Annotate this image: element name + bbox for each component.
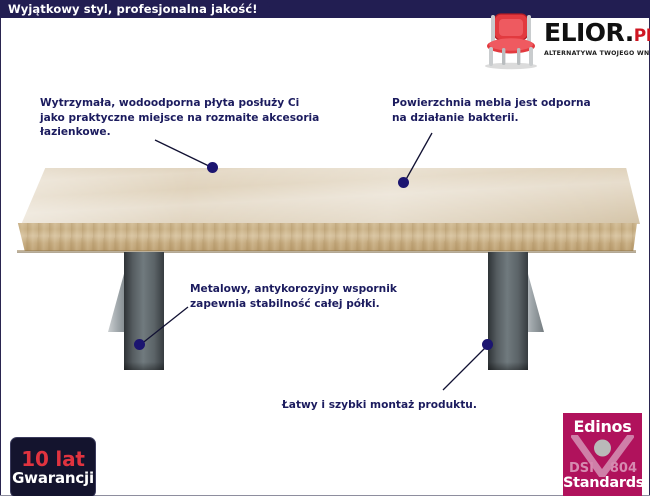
edinos-number: 804 xyxy=(610,461,637,476)
edinos-dsi-code: DSI xyxy=(569,461,594,476)
warranty-label: Gwarancji xyxy=(12,470,94,487)
callout-dot-bacteria-resistant xyxy=(398,177,409,188)
callout-dot-durable-board xyxy=(207,162,218,173)
callout-dot-metal-bracket xyxy=(134,339,145,350)
callout-easy-assembly: Łatwy i szybki montaż produktu. xyxy=(282,398,522,413)
edinos-name: Edinos xyxy=(563,417,642,436)
header-tab: Wyjątkowy styl, profesjonalna jakość! xyxy=(0,0,270,18)
warranty-years: 10 lat xyxy=(21,449,85,470)
page-title: Wyjątkowy styl, profesjonalna jakość! xyxy=(8,0,258,18)
warranty-badge: 10 lat Gwarancji xyxy=(10,437,96,496)
callout-durable-board: Wytrzymała, wodoodporna płyta posłuży Ci… xyxy=(40,96,360,140)
callout-dot-easy-assembly xyxy=(482,339,493,350)
callout-metal-bracket: Metalowy, antykorozyjny wspornik zapewni… xyxy=(190,282,440,311)
edinos-standards-label: Standards xyxy=(563,475,642,491)
callout-bacteria-resistant: Powierzchnia mebla jest odporna na dział… xyxy=(392,96,637,125)
callout-leader-lines xyxy=(0,0,650,496)
edinos-standards-badge: Edinos DSI 804 Standards xyxy=(563,413,642,496)
promo-banner: Wyjątkowy styl, profesjonalna jakość! EL… xyxy=(0,0,650,496)
